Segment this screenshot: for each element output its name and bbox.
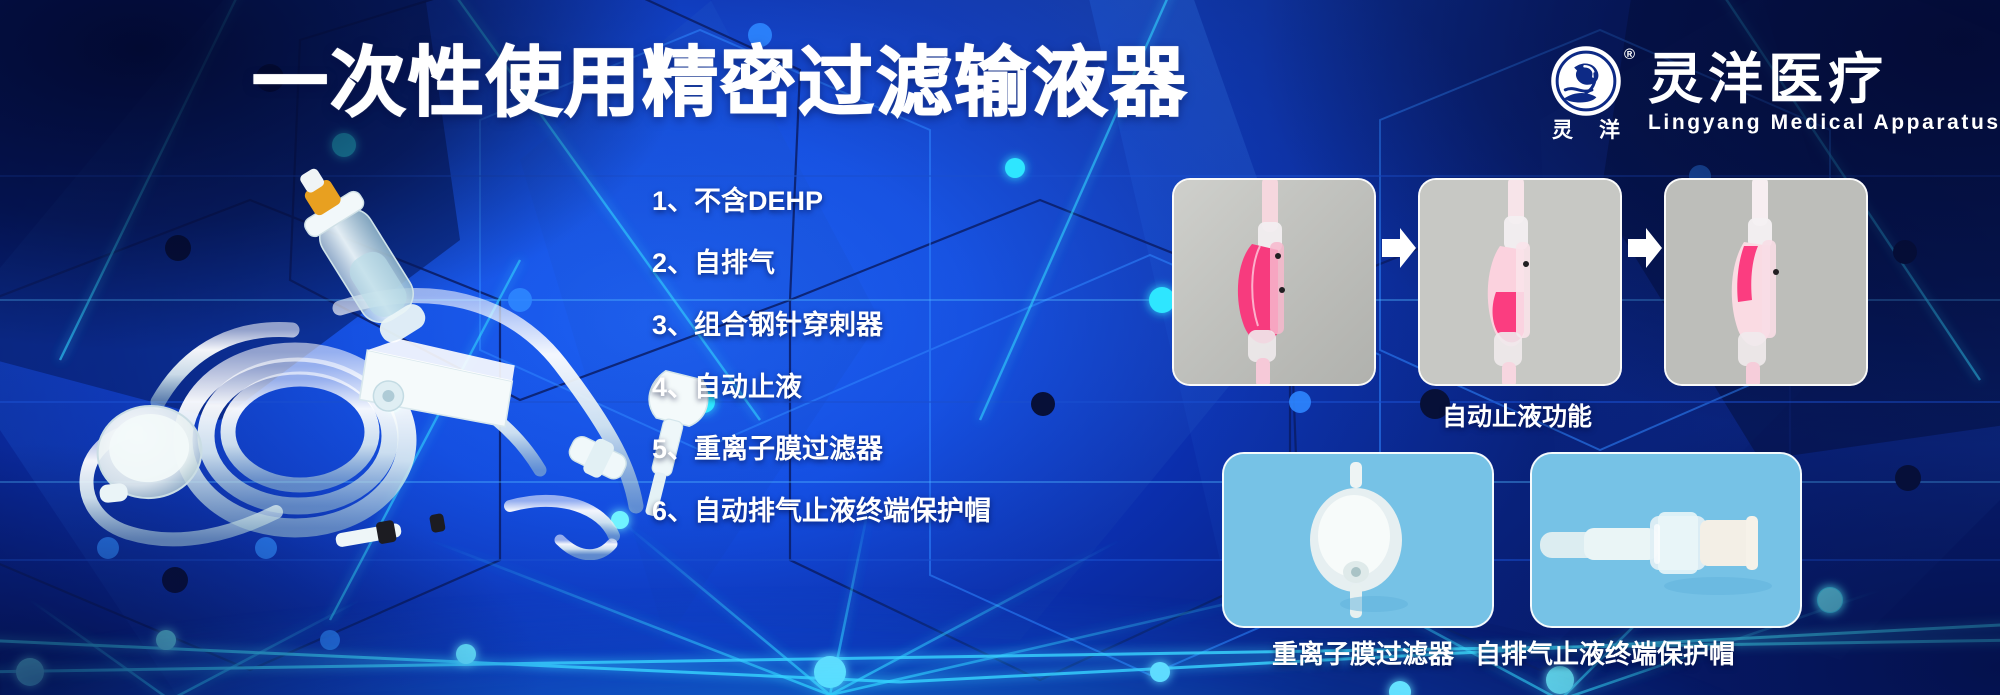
feature-item-3: 3、 组合钢针穿刺器 — [652, 294, 991, 356]
banner-root: 一次性使用精密过滤输液器 ® 灵 洋 灵洋医疗 — [0, 0, 2000, 695]
feature-item-4: 4、 自动止液 — [652, 356, 991, 418]
auto-stop-gallery-caption: 自动止液功能 — [1442, 397, 1592, 433]
feature-item-2: 2、 自排气 — [652, 232, 991, 294]
auto-stop-photo-1 — [1172, 178, 1376, 386]
feature-label-3: 组合钢针穿刺器 — [694, 312, 883, 339]
feature-index-3: 3、 — [652, 312, 694, 339]
feature-label-2: 自排气 — [694, 250, 775, 277]
feature-index-5: 5、 — [652, 436, 694, 463]
feature-index-4: 4、 — [652, 374, 694, 401]
feature-label-4: 自动止液 — [694, 374, 802, 401]
logo-emblem: ® 灵 洋 — [1540, 44, 1632, 141]
auto-stop-photo-3 — [1664, 178, 1868, 386]
filter-photo-panel — [1222, 452, 1494, 628]
feature-index-1: 1、 — [652, 188, 694, 215]
cap-photo-panel — [1530, 452, 1802, 628]
logo-emblem-caption: 灵 洋 — [1552, 120, 1620, 141]
brand-name-en: Lingyang Medical Apparatus — [1648, 111, 2000, 135]
brand-name-block: 灵洋医疗 Lingyang Medical Apparatus — [1648, 50, 2000, 135]
filter-photo-caption: 重离子膜过滤器 — [1272, 634, 1454, 671]
brand-name-cn: 灵洋医疗 — [1648, 50, 2000, 108]
page-title: 一次性使用精密过滤输液器 — [252, 42, 1188, 126]
feature-index-2: 2、 — [652, 250, 694, 277]
arrow-right-icon-1 — [1382, 226, 1416, 270]
logo-emblem-char-right: 洋 — [1599, 120, 1620, 141]
feature-label-1: 不含DEHP — [694, 188, 823, 215]
feature-item-1: 1、 不含DEHP — [652, 170, 991, 232]
auto-stop-photo-2 — [1418, 178, 1622, 386]
brand-logo: ® 灵 洋 灵洋医疗 Lingyang Medical Apparatus — [1540, 44, 2000, 141]
feature-label-6: 自动排气止液终端保护帽 — [694, 498, 991, 525]
cap-photo-caption: 自排气止液终端保护帽 — [1475, 634, 1735, 671]
feature-list: 1、 不含DEHP 2、 自排气 3、 组合钢针穿刺器 4、 自动止液 5、 重… — [652, 170, 991, 542]
arrow-right-icon-2 — [1628, 226, 1662, 270]
logo-circle-icon: ® — [1549, 44, 1623, 118]
product-photo-infusion-set — [40, 140, 740, 560]
feature-item-6: 6、 自动排气止液终端保护帽 — [652, 480, 991, 542]
registered-trademark-icon: ® — [1624, 46, 1635, 63]
feature-index-6: 6、 — [652, 498, 694, 525]
logo-emblem-char-left: 灵 — [1552, 120, 1573, 141]
feature-label-5: 重离子膜过滤器 — [694, 436, 883, 463]
feature-item-5: 5、 重离子膜过滤器 — [652, 418, 991, 480]
